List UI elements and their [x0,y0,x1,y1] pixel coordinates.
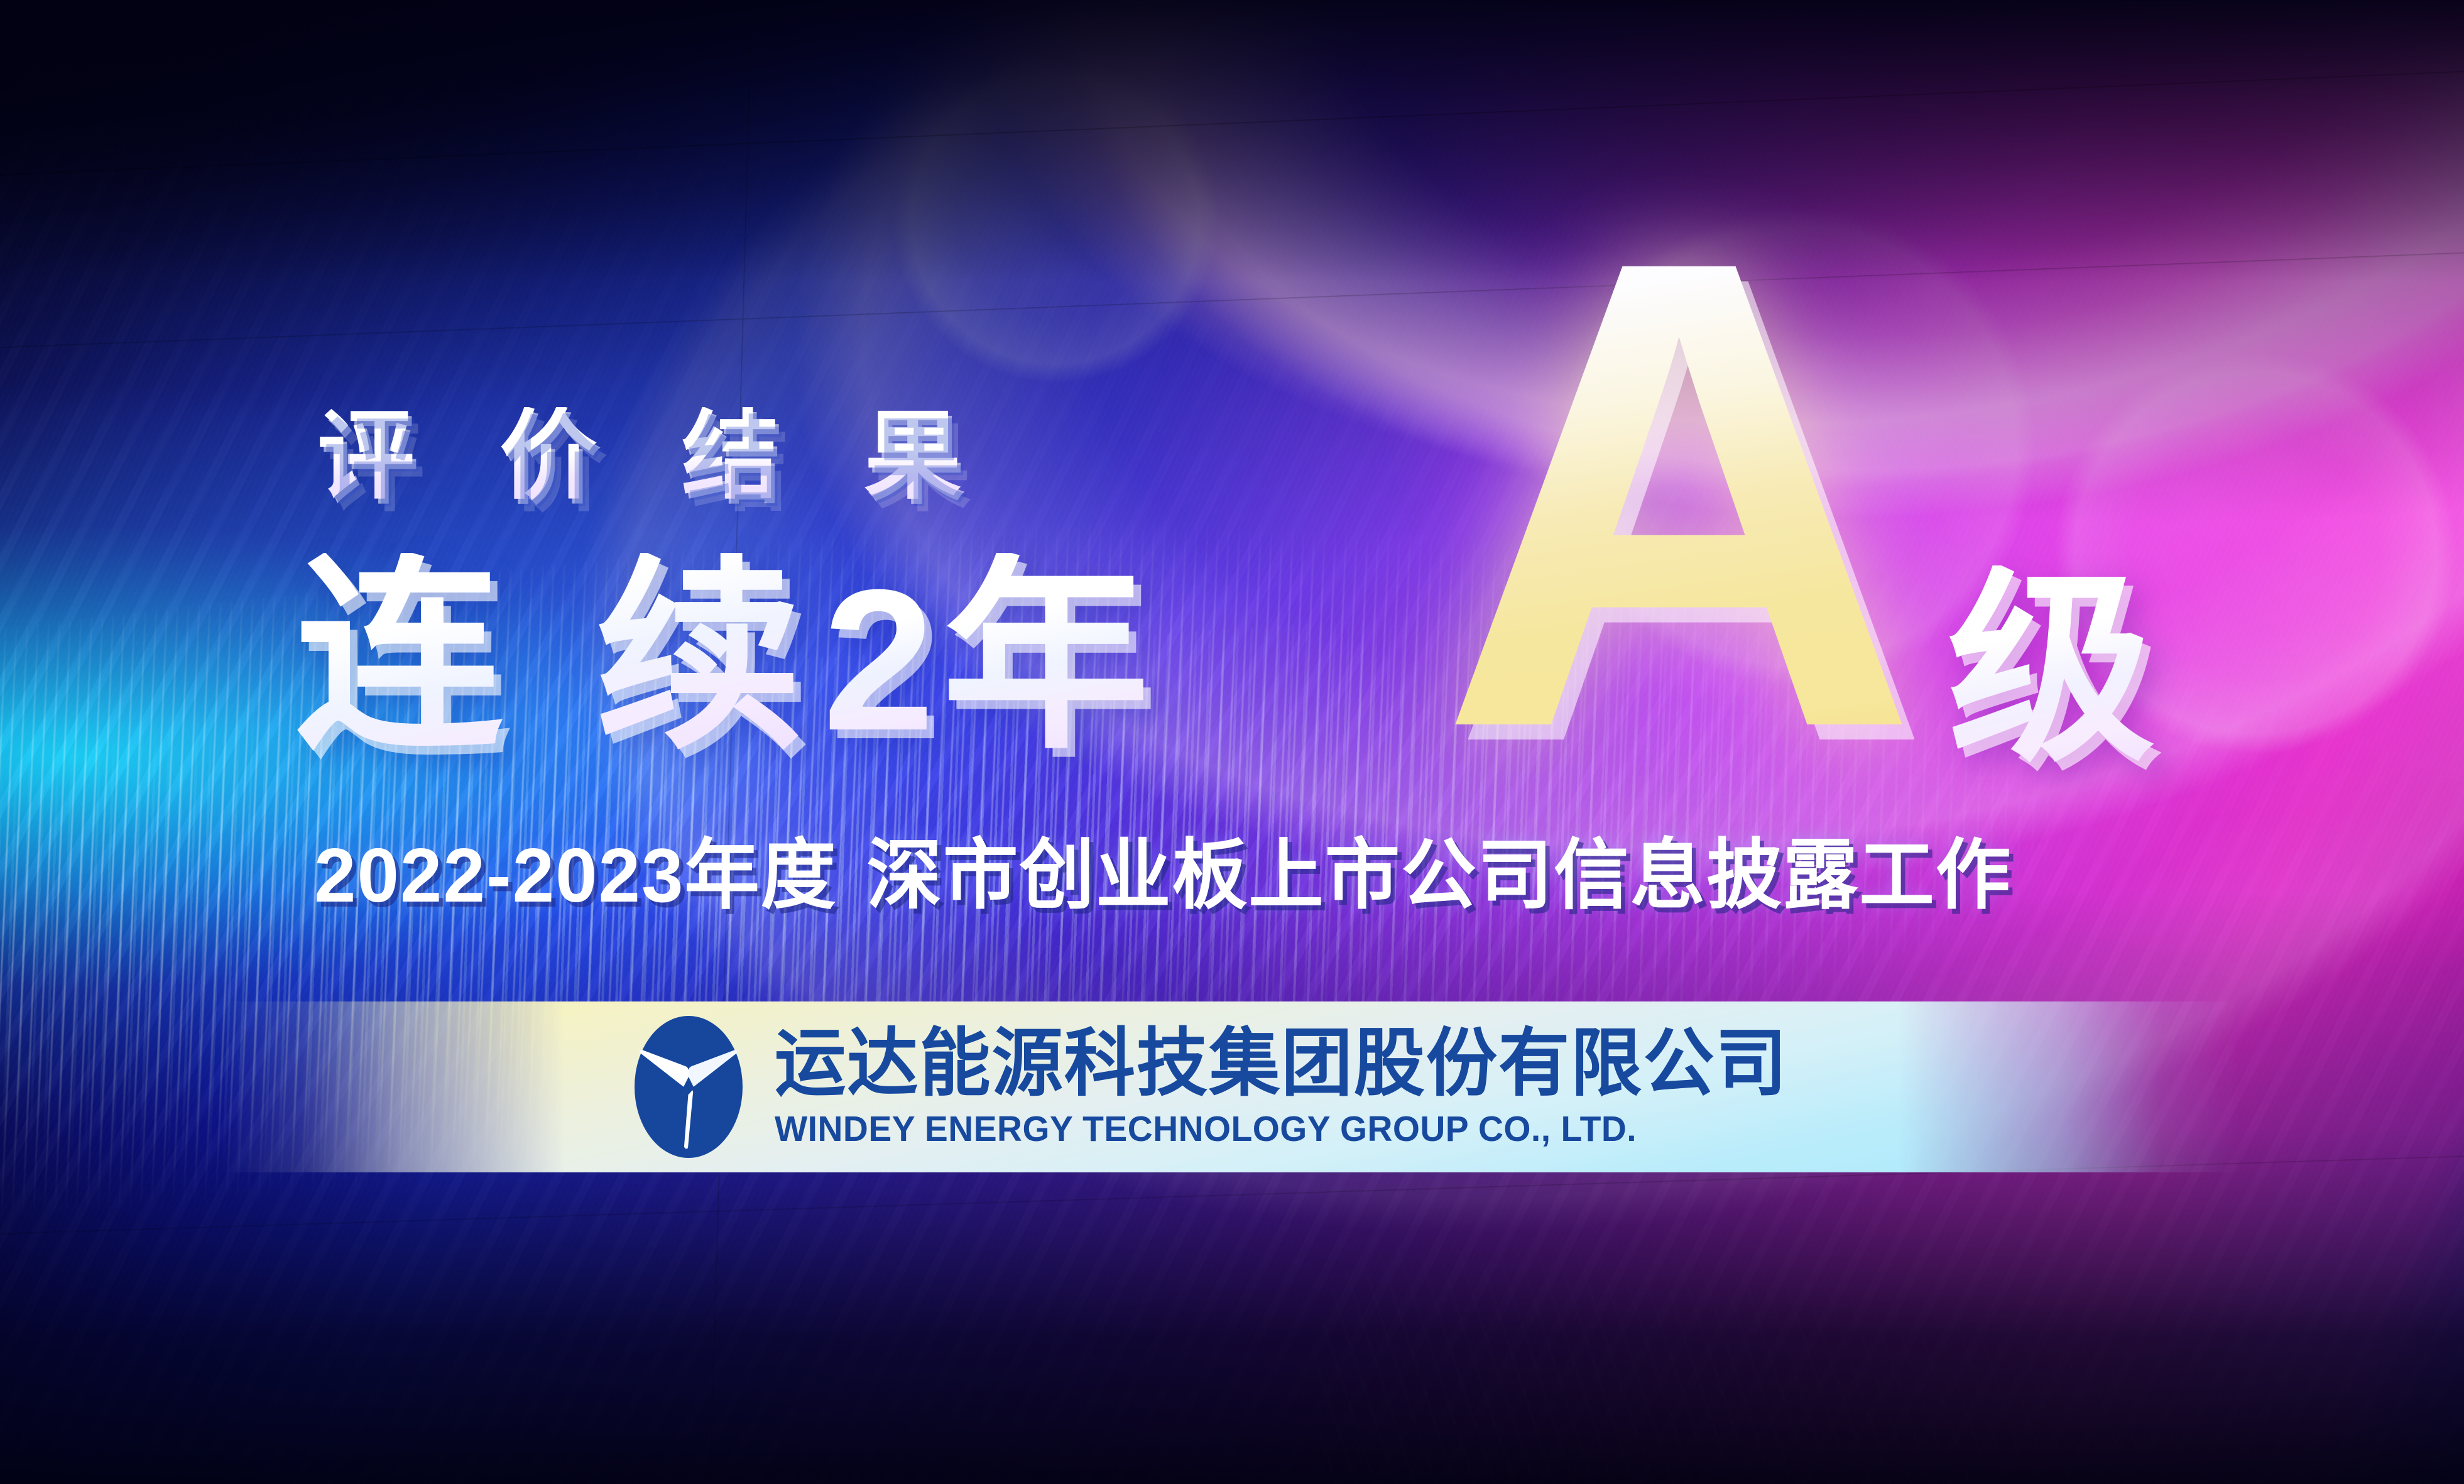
grade-suffix-level: 级 [1948,565,2155,773]
headline-lead-text: 连 续 [295,553,820,760]
subtitle-line: 2022-2023年度深市创业板上市公司信息披露工作 [314,837,2012,914]
subtitle-period: 2022-2023年度 [314,832,837,918]
headline-year-count: 2 [820,559,942,760]
headline-year-unit: 年 [942,553,1167,760]
company-name-block: 运达能源科技集团股份有限公司 WINDEY ENERGY TECHNOLOGY … [775,1025,1830,1149]
company-name-cn: 运达能源科技集团股份有限公司 [775,1025,1788,1103]
poster-content: 评 价 结 果 连 续 2 年 A 级 2022-2023年度深市创业板上市公司… [0,0,2464,1484]
award-poster: 评 价 结 果 连 续 2 年 A 级 2022-2023年度深市创业板上市公司… [0,0,2464,1484]
headline-consecutive-years: 连 续 2 年 [295,553,1167,760]
grade-letter-a: A [1439,207,1907,780]
company-bar: 运达能源科技集团股份有限公司 WINDEY ENERGY TECHNOLOGY … [220,1001,2243,1172]
subtitle-scope: 深市创业板上市公司信息披露工作 [866,832,2012,918]
wind-turbine-logo-icon [633,1014,744,1160]
kicker-evaluation-result: 评 价 结 果 [317,407,990,505]
company-name-en: WINDEY ENERGY TECHNOLOGY GROUP CO., LTD. [775,1110,1799,1149]
